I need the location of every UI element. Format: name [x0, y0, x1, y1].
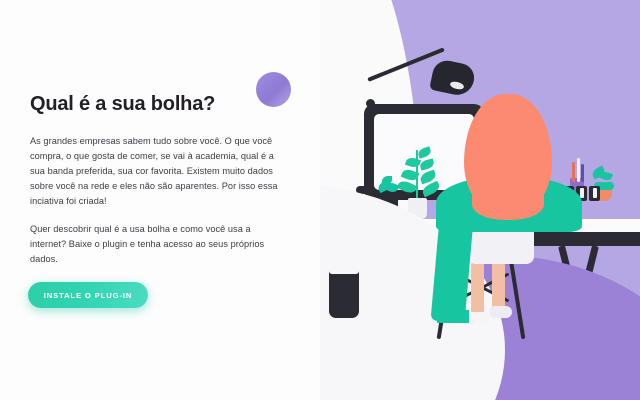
body-paragraph-2: Quer descobrir qual é a usa bolha e como…	[30, 222, 285, 267]
cta-container: INSTALE O PLUG-IN	[28, 282, 148, 308]
person-hair	[464, 94, 552, 212]
trash-bin	[329, 268, 359, 318]
pen-purple	[581, 164, 584, 182]
pen-white	[577, 158, 580, 182]
install-plugin-button[interactable]: INSTALE O PLUG-IN	[28, 282, 148, 308]
pen-orange	[572, 162, 575, 182]
cardigan-fringe	[437, 310, 469, 323]
content-column: Qual é a sua bolha? As grandes empresas …	[0, 0, 330, 400]
body-paragraph-1: As grandes empresas sabem tudo sobre voc…	[30, 134, 285, 209]
illustration-panel	[320, 0, 640, 400]
purple-gradient-circle	[256, 72, 291, 107]
page-root: Qual é a sua bolha? As grandes empresas …	[0, 0, 640, 400]
page-title: Qual é a sua bolha?	[30, 93, 215, 116]
trash-bin-liner	[329, 265, 359, 274]
